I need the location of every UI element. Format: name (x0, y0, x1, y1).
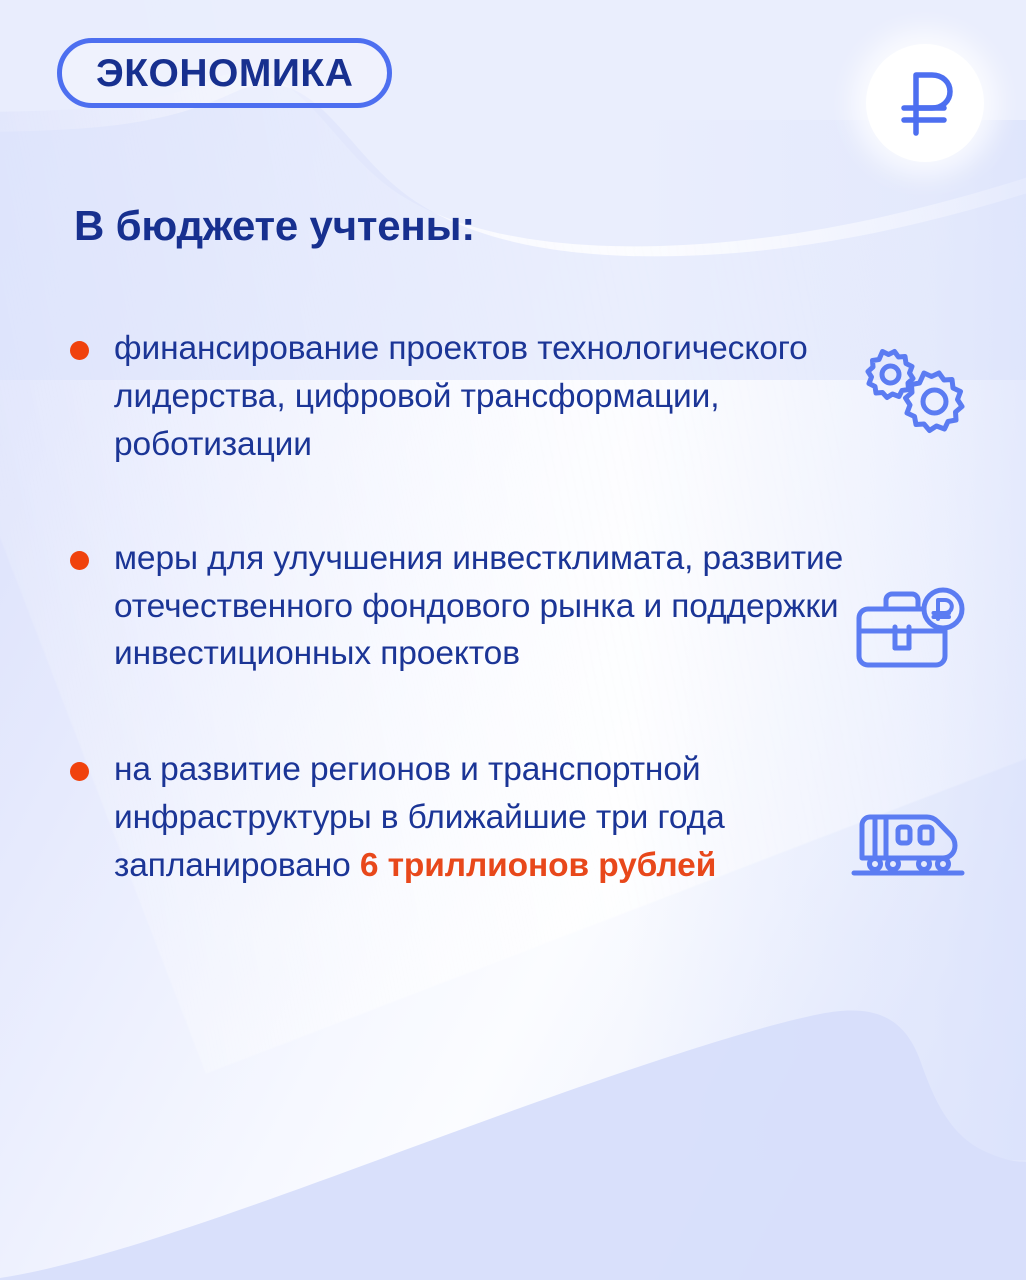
ruble-logo (866, 44, 984, 162)
train-icon (848, 806, 968, 878)
orange-dot-icon (70, 762, 89, 781)
briefcase-ruble-icon (855, 586, 967, 670)
list-item-text: на развитие регионов и транспортной инфр… (114, 746, 844, 890)
list-item: финансирование проектов технологического… (70, 325, 970, 469)
orange-dot-icon (70, 341, 89, 360)
list-item-highlight: 6 триллионов рублей (360, 847, 716, 884)
poster-content: ЭКОНОМИКА В бюджете учтены: финансирован… (0, 0, 1026, 1280)
gears-icon (852, 342, 968, 442)
list-item-text-plain: меры для улучшения инвестклимата, развит… (114, 540, 843, 673)
infographic-poster: ЭКОНОМИКА В бюджете учтены: финансирован… (0, 0, 1026, 1280)
list-item: на развитие регионов и транспортной инфр… (70, 746, 970, 890)
list-item-text: меры для улучшения инвестклимата, развит… (114, 535, 844, 679)
bullet-list: финансирование проектов технологического… (70, 325, 970, 890)
list-item: меры для улучшения инвестклимата, развит… (70, 535, 970, 679)
page-title: В бюджете учтены: (74, 203, 475, 249)
category-badge: ЭКОНОМИКА (57, 38, 392, 108)
category-badge-label: ЭКОНОМИКА (96, 54, 353, 93)
list-item-text: финансирование проектов технологического… (114, 325, 844, 469)
orange-dot-icon (70, 551, 89, 570)
ruble-icon (892, 67, 958, 139)
